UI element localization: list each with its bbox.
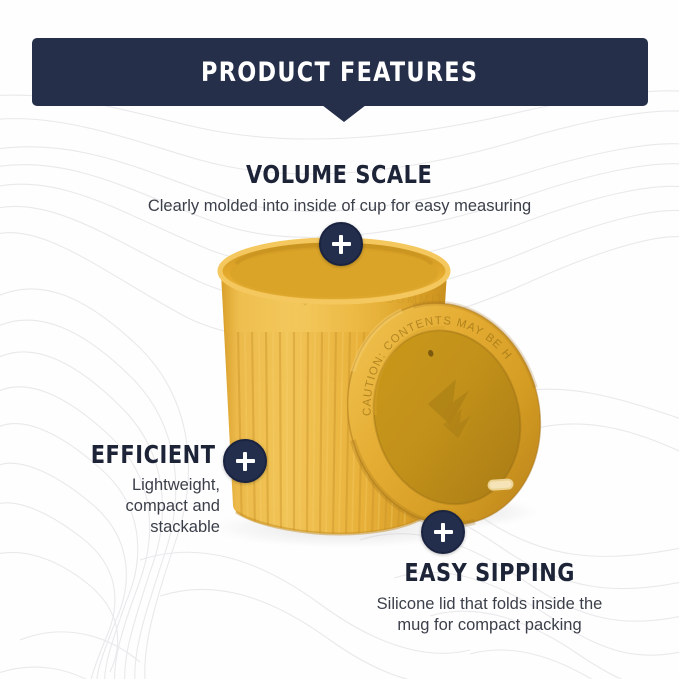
- product-features-infographic: SEA TO SUMMIT: [0, 0, 679, 679]
- plus-icon-easy-sipping[interactable]: [421, 510, 465, 554]
- feature-subtitle-efficient: Lightweight, compact and stackable: [20, 475, 220, 538]
- feature-subtitle-easy-sipping: Silicone lid that folds inside the mug f…: [300, 594, 679, 636]
- feature-title-volume-scale: VOLUME SCALE: [246, 160, 432, 189]
- banner-pointer-triangle: [322, 105, 366, 122]
- page-title: PRODUCT FEATURES: [201, 57, 478, 88]
- plus-icon-vertical-bar: [441, 523, 446, 542]
- plus-icon-vertical-bar: [243, 452, 248, 471]
- header-banner: PRODUCT FEATURES: [32, 38, 648, 106]
- feature-subtitle-line: Lightweight,: [20, 475, 220, 496]
- feature-subtitle-volume-scale: Clearly molded into inside of cup for ea…: [0, 196, 679, 216]
- plus-icon-vertical-bar: [339, 235, 344, 254]
- feature-easy-sipping: EASY SIPPING Silicone lid that folds ins…: [300, 558, 679, 636]
- feature-subtitle-line: compact and: [20, 496, 220, 517]
- feature-volume-scale: VOLUME SCALE Clearly molded into inside …: [0, 160, 679, 216]
- feature-subtitle-line: mug for compact packing: [300, 615, 679, 636]
- feature-subtitle-line: stackable: [20, 517, 220, 538]
- feature-efficient: EFFICIENT Lightweight, compact and stack…: [20, 440, 220, 538]
- feature-title-efficient: EFFICIENT: [90, 440, 215, 469]
- plus-icon-efficient[interactable]: [223, 439, 267, 483]
- feature-subtitle-line: Silicone lid that folds inside the: [300, 594, 679, 615]
- plus-icon-volume-scale[interactable]: [319, 222, 363, 266]
- feature-title-easy-sipping: EASY SIPPING: [404, 558, 575, 587]
